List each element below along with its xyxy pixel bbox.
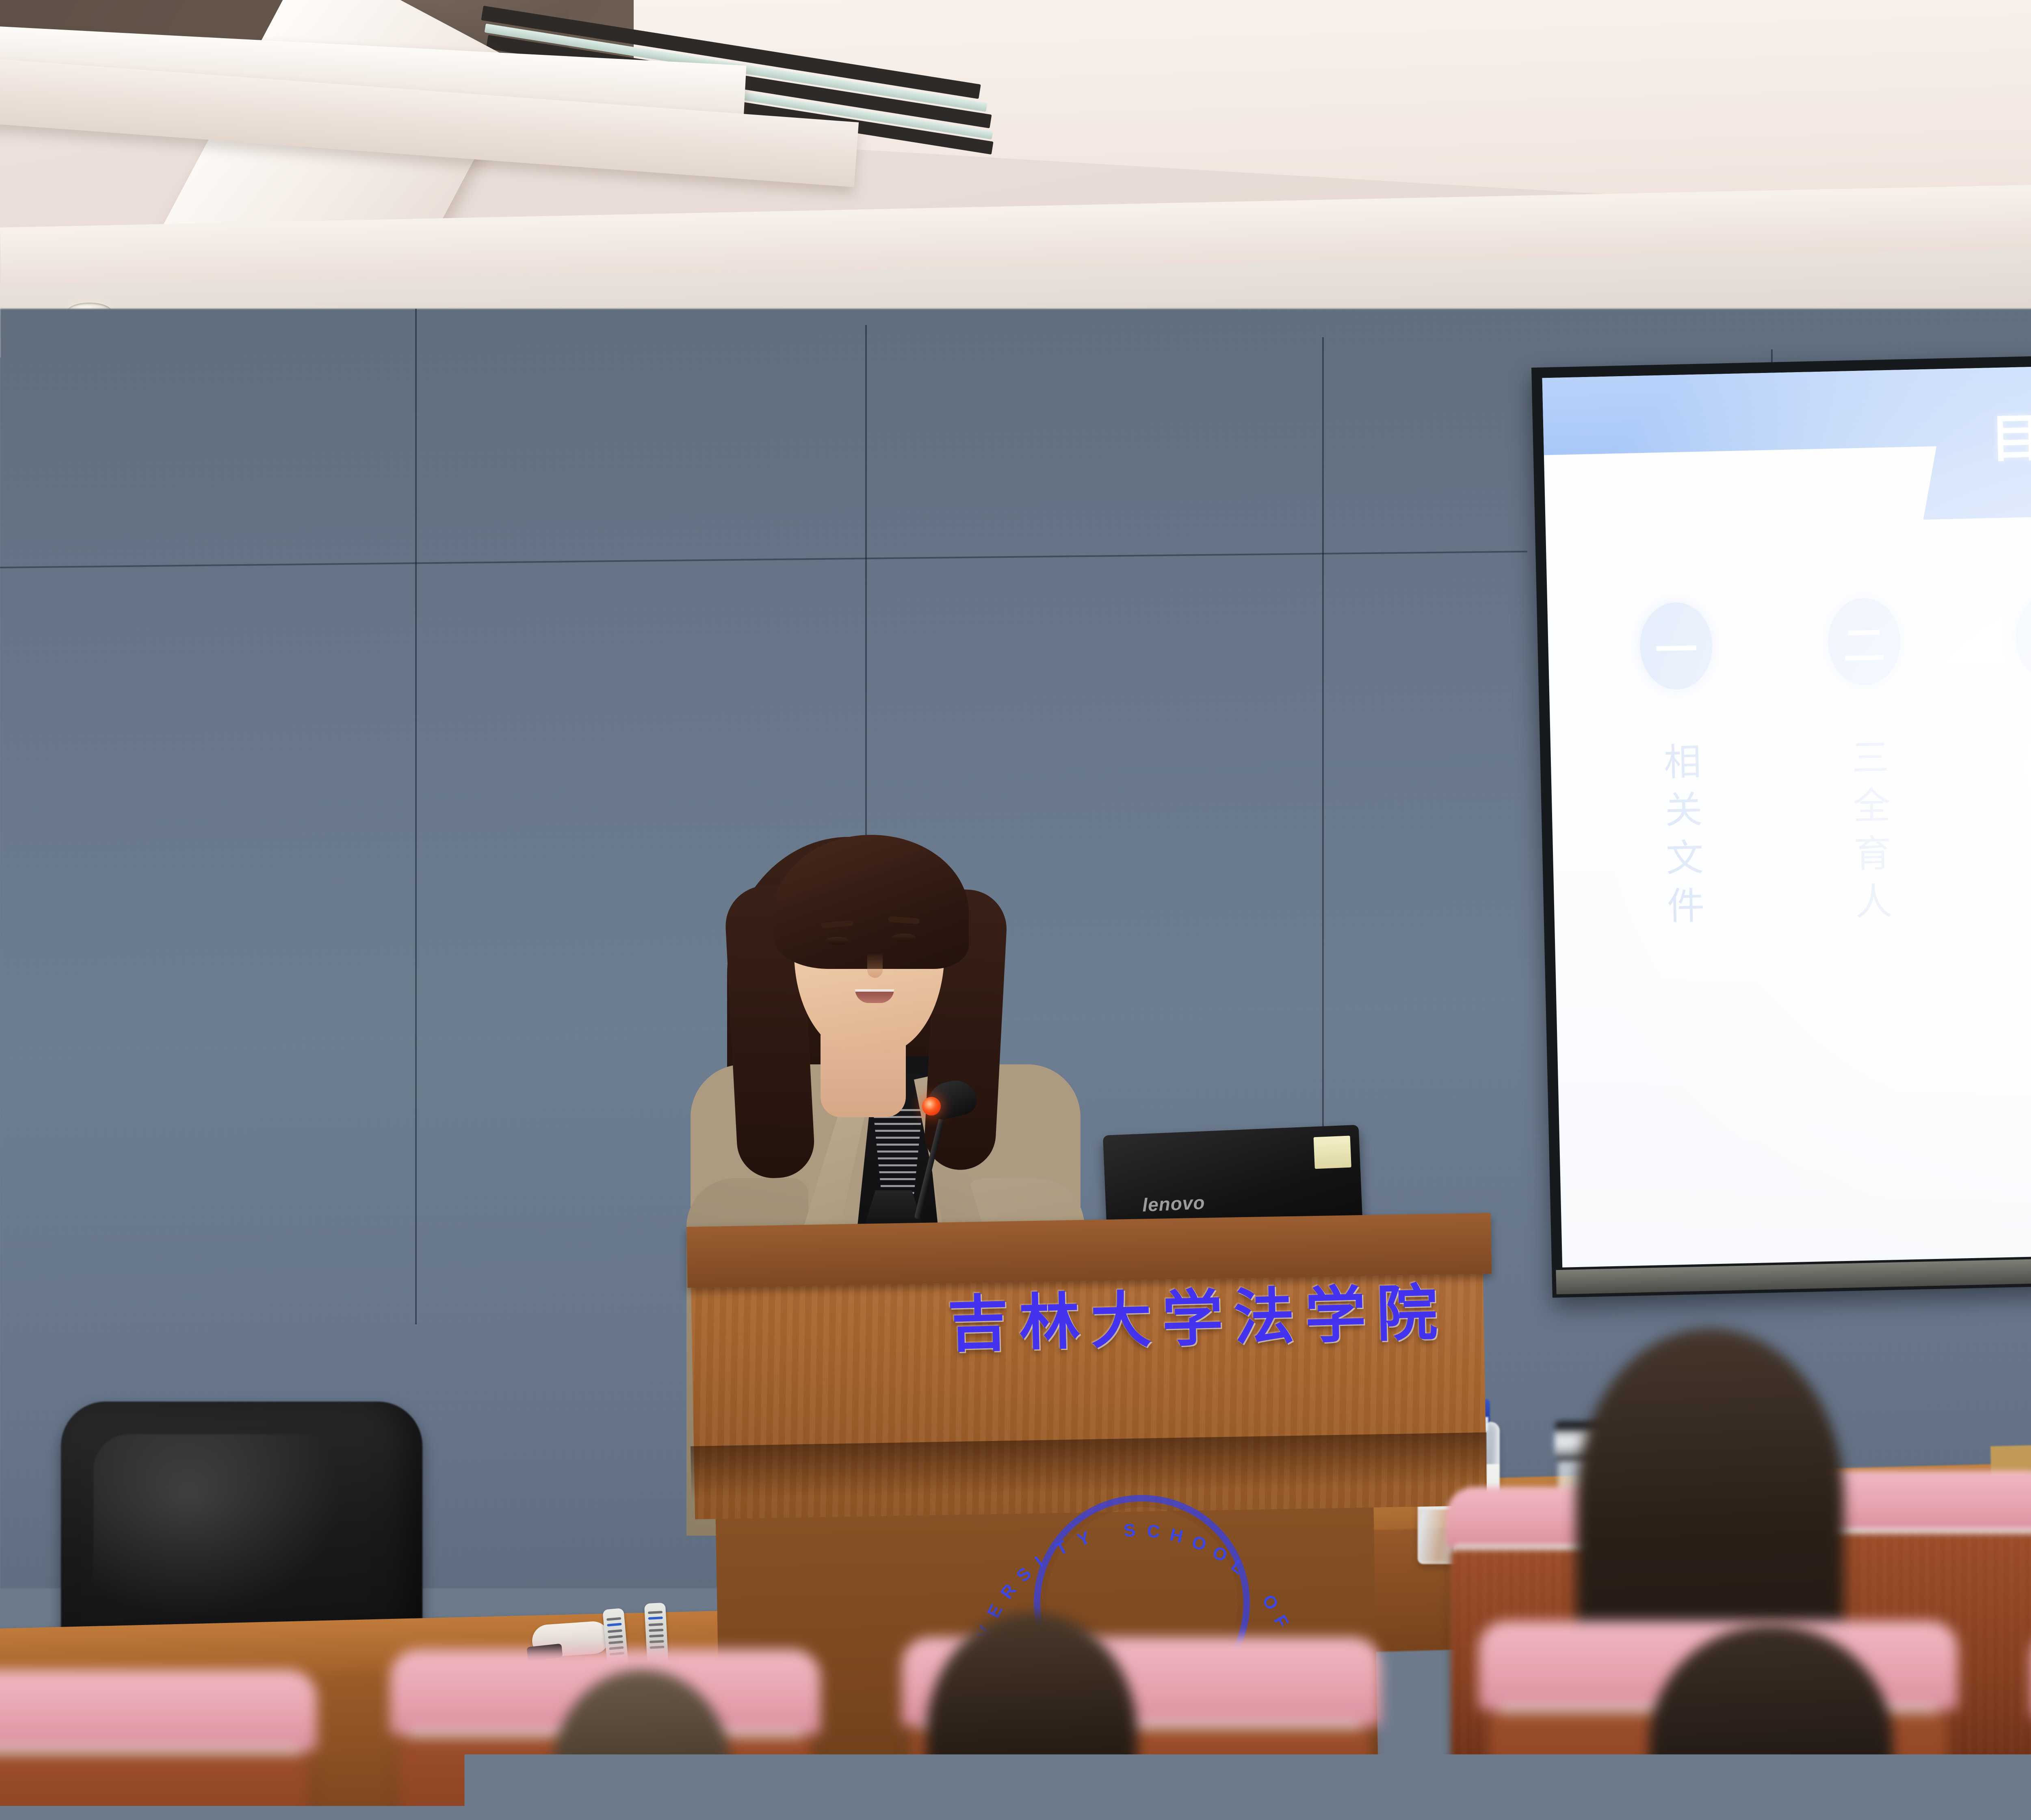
podium-char: 吉 <box>946 1274 1009 1364</box>
slide-item-number: 二 <box>1827 598 1901 686</box>
slide-item-label: 三全育人 <box>1837 737 1900 930</box>
slide-item-label: 课程思政 <box>2025 733 2031 926</box>
microphone-status-led-icon <box>922 1097 941 1116</box>
seat-cushion <box>0 1670 317 1751</box>
podium-char: 法 <box>1232 1267 1295 1357</box>
seal-char: T <box>1052 1537 1072 1560</box>
slide-item-number: 三 <box>2015 593 2031 682</box>
lecture-hall-photo: 目录 一 相关文件 二 三全育人 三 课程思政 四 以学生为中心 <box>0 0 2031 1820</box>
slide-contents-list: 一 相关文件 二 三全育人 三 课程思政 四 以学生为中心 五 我们 <box>1608 584 2031 1031</box>
podium-char: 大 <box>1089 1271 1152 1361</box>
seal-char: Y <box>1074 1527 1093 1551</box>
projection-screen: 目录 一 相关文件 二 三全育人 三 课程思政 四 以学生为中心 <box>1531 344 2031 1298</box>
podium-char: 林 <box>1018 1272 1081 1362</box>
speaker-nose <box>867 953 883 978</box>
slide-item-label: 相关文件 <box>1649 741 1712 934</box>
seal-char: S <box>1123 1520 1136 1541</box>
slide-item-number: 一 <box>1639 602 1713 690</box>
seal-char: O <box>1189 1532 1209 1556</box>
speaker-eye-right <box>892 934 916 942</box>
slide-item: 二 三全育人 <box>1796 597 1940 1027</box>
projection-screen-surface: 目录 一 相关文件 二 三全育人 三 课程思政 四 以学生为中心 <box>1542 355 2031 1267</box>
podium-char: 学 <box>1304 1265 1367 1355</box>
seal-char: H <box>1168 1525 1185 1547</box>
wall-seam <box>415 309 417 1324</box>
speaker-eye-left <box>825 937 849 945</box>
chair-highlight <box>93 1434 345 1621</box>
seat-back-wood <box>0 1754 310 1820</box>
seal-char: C <box>1146 1521 1161 1542</box>
slide-item: 三 课程思政 <box>1984 592 2031 1023</box>
podium-char: 院 <box>1375 1264 1438 1354</box>
laptop-asset-sticker <box>1314 1136 1351 1169</box>
slide-title: 目录 <box>1542 355 2031 512</box>
slide-item: 一 相关文件 <box>1608 601 1752 1031</box>
podium-char: 学 <box>1161 1269 1224 1358</box>
auditorium-seat[interactable] <box>0 1670 317 1820</box>
laptop-brand-logo: lenovo <box>1142 1192 1205 1216</box>
podium-institution-name: 吉 林 大 学 法 学 院 <box>946 1264 1438 1364</box>
